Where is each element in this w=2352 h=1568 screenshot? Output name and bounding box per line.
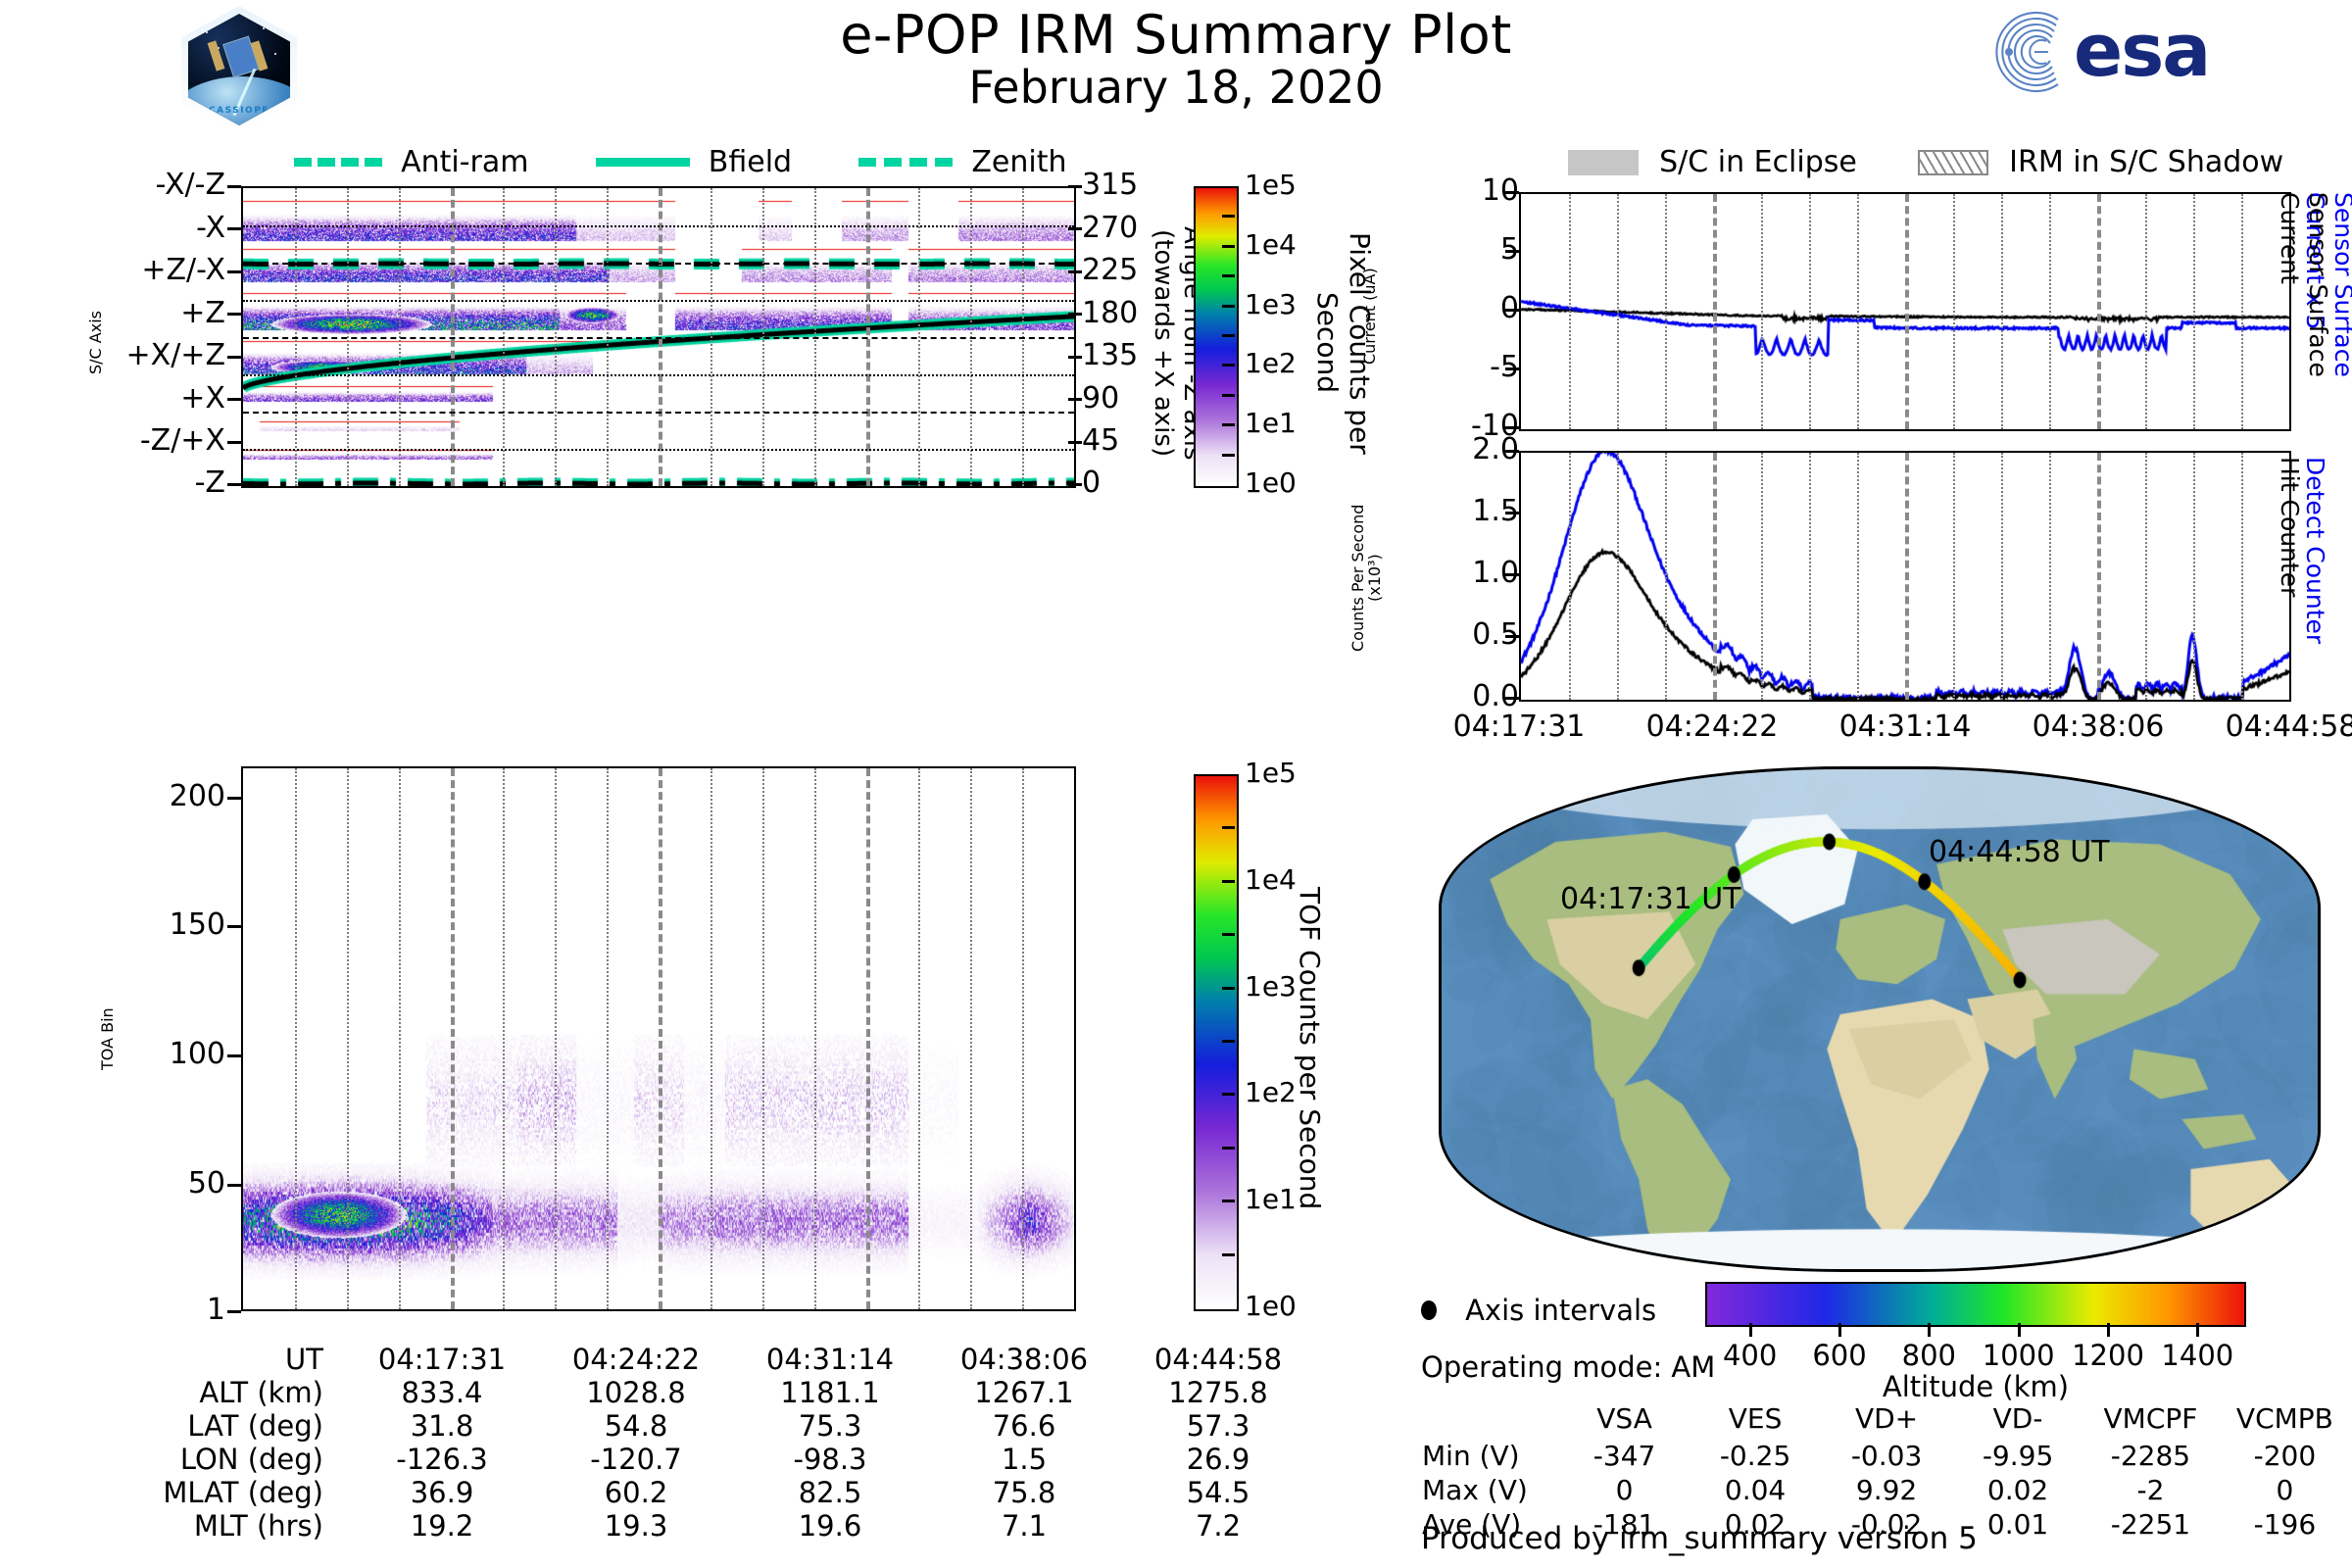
ytick-label: 1.0	[1372, 556, 1519, 590]
ephemeris-table: UT04:17:3104:24:2204:31:1404:38:0604:44:…	[118, 1343, 1315, 1543]
ephemeris-cell: 26.9	[1121, 1443, 1315, 1476]
counts-right-label-black: Hit Counter	[2276, 457, 2304, 653]
orbit-ground-track-map	[1439, 766, 2321, 1272]
gridline-vertical	[1857, 453, 1859, 700]
ephemeris-cell: 04:31:14	[733, 1343, 927, 1376]
esa-mark-icon	[1989, 10, 2074, 94]
ytick-mark	[1505, 191, 1519, 194]
cbtick-mark	[1222, 245, 1235, 248]
cbtick-mark-minor	[1222, 826, 1235, 829]
voltage-cell: 0	[1559, 1473, 1690, 1507]
ytick-label: -5	[1372, 350, 1519, 384]
ytick-mark	[227, 483, 241, 486]
cbtick-mark	[1838, 1323, 1841, 1337]
voltage-cell: 0	[2218, 1473, 2352, 1507]
voltage-cell: -9.95	[1952, 1439, 2083, 1473]
map-start-time-label: 04:17:31 UT	[1560, 882, 1741, 916]
ephemeris-cell: 75.3	[733, 1409, 927, 1443]
reference-line	[243, 263, 1074, 265]
cbtick-label: 1e3	[1245, 970, 1297, 1003]
ytick-mark	[1505, 426, 1519, 429]
gridline-vertical	[2193, 453, 2195, 700]
gridline-vertical	[1569, 453, 1571, 700]
voltage-row-label: Min (V)	[1421, 1439, 1559, 1473]
gridline-vertical	[1569, 194, 1571, 429]
table-row: UT04:17:3104:24:2204:31:1404:38:0604:44:…	[118, 1343, 1315, 1376]
eclipse-legend: S/C in Eclipse IRM in S/C Shadow	[1568, 145, 2283, 179]
legend-label-shadow: IRM in S/C Shadow	[2009, 145, 2283, 179]
gridline-vertical	[1761, 453, 1763, 700]
reference-line	[243, 449, 1074, 451]
cbtick-mark-minor	[1222, 933, 1235, 936]
cbtick-mark	[1749, 1323, 1752, 1337]
cbtick-mark	[1222, 423, 1235, 426]
ytick-mark	[227, 1054, 241, 1057]
operating-mode-label: Operating mode: AM	[1421, 1350, 1715, 1384]
ephemeris-cell: 19.2	[345, 1509, 539, 1543]
table-row: ALT (km)833.41028.81181.11267.11275.8	[118, 1376, 1315, 1409]
ytick-mark	[1068, 313, 1082, 316]
ephemeris-cell: 76.6	[927, 1409, 1121, 1443]
ytick-label: +X/+Z	[78, 338, 225, 372]
ytick-mark	[1068, 356, 1082, 359]
legend-label-eclipse: S/C in Eclipse	[1659, 145, 1857, 179]
gridline-vertical	[347, 768, 349, 1309]
legend-swatch-bfield	[596, 158, 690, 167]
voltage-cell: -2285	[2083, 1439, 2218, 1473]
cbtick-mark	[2196, 1323, 2199, 1337]
cbtick-mark-minor	[1222, 1147, 1235, 1150]
voltage-cell: -0.25	[1690, 1439, 1821, 1473]
gridline-vertical	[1761, 194, 1763, 429]
voltage-corner-cell	[1421, 1401, 1559, 1439]
gridline-vertical	[762, 768, 764, 1309]
ytick-label: 0.5	[1372, 617, 1519, 652]
gridline-vertical	[1617, 453, 1619, 700]
cassiope-logo: CASSIOPE	[181, 6, 297, 133]
voltage-cell: -2	[2083, 1473, 2218, 1507]
ytick-mark	[1068, 398, 1082, 401]
ytick-mark	[1068, 227, 1082, 230]
ephemeris-row-label: MLT (hrs)	[118, 1509, 345, 1543]
ephemeris-row-label: UT	[118, 1343, 345, 1376]
gridline-vertical	[607, 768, 609, 1309]
ephemeris-cell: 19.3	[539, 1509, 733, 1543]
cbtick-mark	[1222, 305, 1235, 308]
ytick-label: 2.0	[1372, 432, 1519, 466]
gridline-vertical	[659, 768, 662, 1309]
ytick-label: -Z	[78, 465, 225, 500]
tof-counts-colorbar-title: TOF Counts per Second	[1294, 853, 1326, 1245]
gridline-vertical	[2049, 453, 2051, 700]
gridline-vertical	[555, 768, 557, 1309]
ephemeris-cell: 1275.8	[1121, 1376, 1315, 1409]
ytick-label: 10	[1372, 173, 1519, 208]
sc-axis-legend: Anti-ram Bfield Zenith	[294, 145, 1067, 179]
ytick-label: +Z	[78, 296, 225, 330]
ephemeris-cell: 54.5	[1121, 1476, 1315, 1509]
ytick-label: 150	[69, 907, 225, 942]
gridline-vertical	[1665, 194, 1667, 429]
axis-intervals-legend: Axis intervals	[1421, 1294, 1656, 1327]
gridline-vertical	[2145, 453, 2147, 700]
gridline-vertical	[1953, 194, 1955, 429]
xtick-label: 04:24:22	[1609, 710, 1815, 744]
table-row: LON (deg)-126.3-120.7-98.31.526.9	[118, 1443, 1315, 1476]
ytick-mark	[1505, 697, 1519, 700]
ephemeris-cell: -98.3	[733, 1443, 927, 1476]
legend-label-anti-ram: Anti-ram	[401, 145, 528, 179]
voltage-cell: 0.04	[1690, 1473, 1821, 1507]
ephemeris-cell: 7.2	[1121, 1509, 1315, 1543]
ytick-label: -X	[78, 211, 225, 245]
ytick-mark	[1505, 635, 1519, 638]
cbtick-label: 1e1	[1245, 1183, 1297, 1215]
gridline-vertical	[1857, 194, 1859, 429]
ephemeris-cell: 36.9	[345, 1476, 539, 1509]
gridline-vertical	[970, 768, 972, 1309]
cbtick-label: 1e5	[1245, 757, 1297, 789]
table-row: LAT (deg)31.854.875.376.657.3	[118, 1409, 1315, 1443]
ephemeris-cell: 04:44:58	[1121, 1343, 1315, 1376]
xtick-label: 04:44:58	[2188, 710, 2352, 744]
ytick-mark	[1068, 441, 1082, 444]
table-row: MLAT (deg)36.960.282.575.854.5	[118, 1476, 1315, 1509]
esa-logo: esa	[1989, 10, 2209, 94]
gridline-vertical	[1905, 453, 1909, 700]
ytick-mark	[227, 1184, 241, 1187]
gridline-vertical	[1713, 194, 1717, 429]
ytick-label: 5	[1372, 232, 1519, 267]
ephemeris-cell: 57.3	[1121, 1409, 1315, 1443]
gridline-vertical	[1905, 194, 1909, 429]
voltage-column-header: VMCPF	[2083, 1401, 2218, 1439]
reference-line	[243, 337, 1074, 339]
current-plot	[1519, 192, 2291, 431]
gridline-vertical	[710, 768, 712, 1309]
toa-bin-spectrogram	[241, 766, 1076, 1311]
gridline-vertical	[1953, 453, 1955, 700]
counts-right-label-blue: Detect Counter	[2301, 457, 2329, 653]
axis-interval-dot-icon	[1421, 1300, 1437, 1320]
sc-axis-spectrogram	[241, 186, 1076, 488]
cbtick-label: 1e2	[1245, 347, 1297, 379]
cbtick-label: 1e4	[1245, 228, 1297, 261]
gridline-vertical	[2049, 194, 2051, 429]
gridline-vertical	[2241, 194, 2243, 429]
ytick-label: +X	[78, 381, 225, 416]
cbtick-mark-minor	[1222, 454, 1235, 457]
legend-swatch-eclipse	[1568, 150, 1639, 175]
gridline-vertical	[2193, 194, 2195, 429]
cbtick-label: 1400	[2129, 1339, 2266, 1372]
cbtick-label: 1e0	[1245, 466, 1297, 499]
ytick-mark	[227, 398, 241, 401]
table-row: Max (V)00.049.920.02-20	[1421, 1473, 2352, 1507]
cbtick-mark	[1928, 1323, 1931, 1337]
ytick-label: 100	[69, 1037, 225, 1071]
ephemeris-row-label: LAT (deg)	[118, 1409, 345, 1443]
cbtick-mark-minor	[1222, 1040, 1235, 1043]
ephemeris-cell: 7.1	[927, 1509, 1121, 1543]
voltage-column-header: VD+	[1821, 1401, 1952, 1439]
xtick-label: 04:38:06	[1995, 710, 2201, 744]
table-row: MLT (hrs)19.219.319.67.17.2	[118, 1509, 1315, 1543]
cbtick-mark-minor	[1222, 334, 1235, 337]
cbtick-mark	[1222, 880, 1235, 883]
voltage-cell: -196	[2218, 1507, 2352, 1542]
ephemeris-cell: -120.7	[539, 1443, 733, 1476]
ytick-mark	[227, 185, 241, 188]
gridline-vertical	[503, 768, 505, 1309]
ytick-mark	[227, 227, 241, 230]
altitude-colorbar-title: Altitude (km)	[1705, 1370, 2246, 1403]
cbtick-mark	[1222, 1200, 1235, 1202]
ytick-mark	[1068, 483, 1082, 486]
xtick-label: 04:17:31	[1416, 710, 1622, 744]
gridline-vertical	[295, 768, 297, 1309]
cbtick-mark-minor	[1222, 1253, 1235, 1256]
cbtick-mark	[1222, 364, 1235, 367]
voltage-column-header: VCMPB	[2218, 1401, 2352, 1439]
ephemeris-cell: 82.5	[733, 1476, 927, 1509]
ytick-mark	[227, 925, 241, 928]
cbtick-label: 1e3	[1245, 288, 1297, 320]
reference-line	[243, 300, 1074, 302]
ytick-mark	[1505, 573, 1519, 576]
legend-swatch-anti-ram	[294, 158, 382, 167]
cbtick-label: 1e2	[1245, 1076, 1297, 1108]
voltage-cell: -347	[1559, 1439, 1690, 1473]
ytick-label: +Z/-X	[78, 253, 225, 287]
tof-counts-colorbar	[1194, 774, 1239, 1311]
gridline-vertical	[1809, 194, 1811, 429]
cbtick-label: 1e4	[1245, 863, 1297, 896]
voltage-column-header: VES	[1690, 1401, 1821, 1439]
gridline-vertical	[866, 768, 870, 1309]
gridline-vertical	[2097, 453, 2101, 700]
ephemeris-cell: 75.8	[927, 1476, 1121, 1509]
reference-line	[243, 225, 1074, 227]
gridline-vertical	[918, 768, 920, 1309]
ephemeris-cell: 1.5	[927, 1443, 1121, 1476]
ytick-mark	[227, 356, 241, 359]
ephemeris-cell: 1181.1	[733, 1376, 927, 1409]
legend-swatch-zenith	[858, 158, 953, 167]
voltage-cell: 0.02	[1952, 1473, 2083, 1507]
ytick-mark	[1068, 185, 1082, 188]
ytick-label: -X/-Z	[78, 168, 225, 202]
voltage-column-header: VD-	[1952, 1401, 2083, 1439]
cbtick-mark-minor	[1222, 274, 1235, 277]
ephemeris-row-label: LON (deg)	[118, 1443, 345, 1476]
cbtick-label: 1e0	[1245, 1290, 1297, 1322]
gridline-vertical	[2145, 194, 2147, 429]
ephemeris-row-label: MLAT (deg)	[118, 1476, 345, 1509]
legend-label-bfield: Bfield	[709, 145, 792, 179]
cbtick-mark	[2018, 1323, 2021, 1337]
cassiope-logo-label: CASSIOPE	[188, 106, 290, 116]
reference-line	[243, 374, 1074, 376]
ytick-mark	[1505, 250, 1519, 253]
axis-intervals-label: Axis intervals	[1465, 1294, 1656, 1327]
map-end-time-label: 04:44:58 UT	[1929, 835, 2110, 869]
voltage-cell: -2251	[2083, 1507, 2218, 1542]
ephemeris-cell: 833.4	[345, 1376, 539, 1409]
gridline-vertical	[451, 768, 455, 1309]
gridline-vertical	[2001, 453, 2003, 700]
ephemeris-cell: 54.8	[539, 1409, 733, 1443]
current-right-label-black: Sensor Surface Current	[2276, 192, 2332, 437]
footer-produced-by: Produced by irm_summary version 5	[1421, 1521, 1978, 1556]
voltage-cell: -0.03	[1821, 1439, 1952, 1473]
ytick-label: 50	[69, 1166, 225, 1200]
ephemeris-cell: 1028.8	[539, 1376, 733, 1409]
cbtick-mark-minor	[1222, 394, 1235, 397]
cbtick-label: 1e1	[1245, 407, 1297, 439]
gridline-vertical	[2001, 194, 2003, 429]
ytick-label: -Z/+X	[78, 423, 225, 458]
ytick-label: 1.5	[1372, 494, 1519, 528]
ytick-mark	[1505, 512, 1519, 514]
table-row: Min (V)-347-0.25-0.03-9.95-2285-200	[1421, 1439, 2352, 1473]
gridline-vertical	[2097, 194, 2101, 429]
ephemeris-cell: 04:17:31	[345, 1343, 539, 1376]
legend-label-zenith: Zenith	[971, 145, 1066, 179]
gridline-vertical	[1617, 194, 1619, 429]
cbtick-mark-minor	[1222, 215, 1235, 218]
gridline-vertical	[2241, 453, 2243, 700]
reference-line	[243, 412, 1074, 414]
ephemeris-cell: 60.2	[539, 1476, 733, 1509]
table-header-row: VSAVESVD+VD-VMCPFVCMPB	[1421, 1401, 2352, 1439]
ytick-mark	[227, 797, 241, 800]
ytick-mark	[227, 270, 241, 273]
pixel-counts-colorbar	[1194, 186, 1239, 488]
legend-swatch-shadow	[1918, 150, 1988, 175]
voltage-column-header: VSA	[1559, 1401, 1690, 1439]
esa-wordmark: esa	[2074, 23, 2209, 80]
xtick-label: 04:31:14	[1802, 710, 2008, 744]
ytick-label: 200	[69, 779, 225, 813]
gridline-vertical	[814, 768, 816, 1309]
voltage-cell: 9.92	[1821, 1473, 1952, 1507]
voltage-cell: -200	[2218, 1439, 2352, 1473]
ytick-mark	[1505, 450, 1519, 453]
ephemeris-cell: 1267.1	[927, 1376, 1121, 1409]
ytick-mark	[227, 441, 241, 444]
altitude-colorbar	[1705, 1282, 2246, 1327]
ephemeris-row-label: ALT (km)	[118, 1376, 345, 1409]
gridline-vertical	[399, 768, 401, 1309]
ytick-mark	[227, 1310, 241, 1313]
cbtick-mark	[1222, 1093, 1235, 1096]
ephemeris-cell: 19.6	[733, 1509, 927, 1543]
ephemeris-cell: -126.3	[345, 1443, 539, 1476]
ephemeris-cell: 04:24:22	[539, 1343, 733, 1376]
ytick-mark	[1505, 367, 1519, 370]
ephemeris-cell: 31.8	[345, 1409, 539, 1443]
gridline-vertical	[1665, 453, 1667, 700]
cbtick-mark	[1222, 987, 1235, 990]
ytick-mark	[1505, 309, 1519, 312]
gridline-vertical	[1022, 768, 1024, 1309]
gridline-vertical	[1809, 453, 1811, 700]
counts-plot	[1519, 451, 2291, 702]
ytick-mark	[227, 313, 241, 316]
ytick-mark	[1068, 270, 1082, 273]
cbtick-mark	[2107, 1323, 2110, 1337]
cbtick-label: 1e5	[1245, 169, 1297, 201]
ytick-label: 1	[69, 1293, 225, 1327]
ephemeris-cell: 04:38:06	[927, 1343, 1121, 1376]
voltage-row-label: Max (V)	[1421, 1473, 1559, 1507]
ytick-label: 0	[1372, 291, 1519, 325]
gridline-vertical	[1713, 453, 1717, 700]
